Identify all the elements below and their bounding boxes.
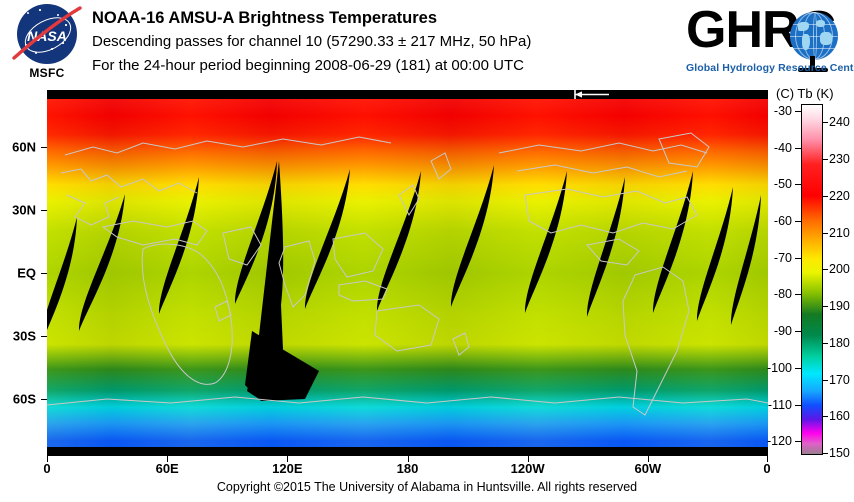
colorbar-label-celsius: -30 [748,104,792,118]
colorbar-tick-celsius [795,184,801,185]
coastline [499,143,707,153]
coastline [659,133,709,167]
colorbar-label-kelvin: 240 [829,115,850,129]
colorbar-tick-celsius [795,294,801,295]
colorbar-label-celsius: -90 [748,324,792,338]
x-axis-label: 0 [763,461,770,476]
colorbar-tick-celsius [795,221,801,222]
colorbar-label-kelvin: 190 [829,299,850,313]
colorbar-tick-celsius [795,405,801,406]
y-axis-label: 60S [0,391,36,406]
ghrc-subtitle: Global Hydrology Resource Center [686,62,848,74]
map-plot-area[interactable] [47,90,768,456]
coastline [142,244,232,384]
coastline [517,165,687,177]
coastline [453,333,469,355]
colorbar-tick-kelvin [822,269,828,270]
page-title: NOAA-16 AMSU-A Brightness Temperatures [92,7,672,30]
coastline [279,241,315,307]
nasa-logo: NASA MSFC [8,4,86,82]
colorbar-gradient [802,105,822,454]
coastline [65,137,391,155]
subtitle-channel: Descending passes for channel 10 (57290.… [92,30,672,54]
colorbar-tick-kelvin [822,380,828,381]
colorbar-label-celsius: -60 [748,214,792,228]
subtitle-period: For the 24-hour period beginning 2008-06… [92,54,672,78]
coastline [375,305,439,351]
x-axis-label: 60E [156,461,179,476]
x-axis-label: 120W [511,461,545,476]
coastline [61,169,197,193]
colorbar-label-kelvin: 220 [829,189,850,203]
ascending-node-marker-icon [557,90,617,99]
coastline [339,281,387,301]
y-axis-tick [41,336,47,337]
colorbar-tick-celsius [795,111,801,112]
colorbar[interactable] [801,104,823,455]
y-axis-tick [41,147,47,148]
colorbar-tick-kelvin [822,233,828,234]
colorbar-label-kelvin: 150 [829,446,850,460]
colorbar-label-kelvin: 180 [829,336,850,350]
y-axis-tick [41,210,47,211]
coastline [525,189,697,233]
colorbar-tick-celsius [795,441,801,442]
copyright-notice: Copyright ©2015 The University of Alabam… [0,480,854,494]
coastline [623,267,689,415]
coastline [47,397,768,405]
colorbar-label-kelvin: 160 [829,409,850,423]
colorbar-tick-kelvin [822,306,828,307]
colorbar-label-celsius: -110 [748,398,792,412]
x-axis-label: 180 [397,461,419,476]
coastline [103,221,207,245]
colorbar-label-kelvin: 170 [829,373,850,387]
coastline [67,195,119,225]
y-axis-label: EQ [0,266,36,281]
y-axis-tick [41,273,47,274]
colorbar-label-celsius: -50 [748,177,792,191]
colorbar-tick-kelvin [822,122,828,123]
y-axis-label: 30N [0,203,36,218]
x-axis-label: 120E [272,461,302,476]
colorbar-tick-kelvin [822,343,828,344]
coastline [587,239,639,265]
colorbar-label-kelvin: 210 [829,226,850,240]
colorbar-tick-celsius [795,368,801,369]
colorbar-tick-celsius [795,148,801,149]
colorbar-tick-celsius [795,258,801,259]
colorbar-label-kelvin: 230 [829,152,850,166]
colorbar-label-celsius: -120 [748,434,792,448]
y-axis-label: 30S [0,328,36,343]
x-axis-label: 60W [634,461,661,476]
brightness-temperature-raster [47,99,768,447]
coastline [399,185,419,215]
nasa-center-label: MSFC [8,66,86,80]
coastline-layer [47,99,768,447]
title-block: NOAA-16 AMSU-A Brightness Temperatures D… [92,7,672,78]
colorbar-label-celsius: -40 [748,141,792,155]
colorbar-header: (C) Tb (K) [776,86,854,101]
nasa-swoosh-icon [10,6,84,62]
coastline [223,227,261,265]
colorbar-tick-kelvin [822,453,828,454]
colorbar-label-celsius: -70 [748,251,792,265]
colorbar-tick-kelvin [822,159,828,160]
ghrc-logo: GHRC Global Hydrology Resource Center [686,6,848,80]
y-axis-tick [41,399,47,400]
coastline [333,233,383,277]
coastline [431,153,451,179]
colorbar-label-kelvin: 200 [829,262,850,276]
x-axis-label: 0 [43,461,50,476]
colorbar-tick-kelvin [822,196,828,197]
colorbar-tick-celsius [795,331,801,332]
y-axis-label: 60N [0,140,36,155]
colorbar-tick-kelvin [822,416,828,417]
colorbar-label-celsius: -100 [748,361,792,375]
page-header: NASA MSFC NOAA-16 AMSU-A Brightness Temp… [0,0,854,88]
globe-icon [790,12,838,60]
colorbar-label-celsius: -80 [748,287,792,301]
